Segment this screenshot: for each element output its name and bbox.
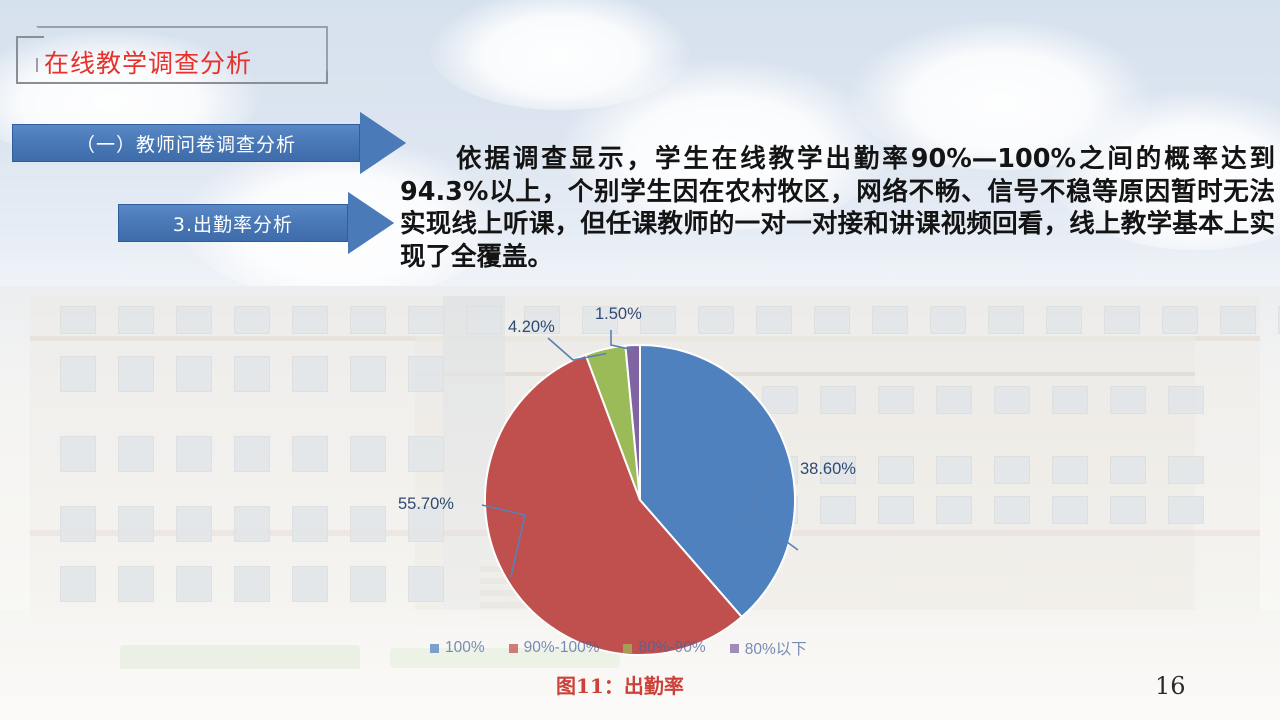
legend-item[interactable]: 100% xyxy=(430,639,485,657)
hedge-shrub xyxy=(120,645,360,669)
section-banner-teacher-survey[interactable]: （一）教师问卷调查分析 xyxy=(12,112,406,174)
section-banner-attendance-analysis[interactable]: 3.出勤率分析 xyxy=(118,192,394,254)
arrow-right-icon xyxy=(348,192,394,254)
legend-swatch xyxy=(430,644,439,653)
legend-label: 80%以下 xyxy=(745,637,807,659)
body-paragraph: 依据调查显示，学生在线教学出勤率90%—100%之间的概率达到94.3%以上，个… xyxy=(400,143,1275,274)
pie-data-label-100: 38.60% xyxy=(800,460,856,479)
chart-legend: 100%90%-100%80%-90%80%以下 xyxy=(430,637,807,659)
legend-label: 80%-90% xyxy=(638,639,705,657)
slide-canvas: 在线教学调查分析 （一）教师问卷调查分析 3.出勤率分析 依据调查显示，学生在线… xyxy=(0,0,1280,720)
legend-swatch xyxy=(509,644,518,653)
pie-data-label-80-90: 4.20% xyxy=(508,318,555,337)
banner-label: （一）教师问卷调查分析 xyxy=(76,130,296,157)
legend-label: 100% xyxy=(445,639,485,657)
banner-body: （一）教师问卷调查分析 xyxy=(12,124,360,162)
legend-item[interactable]: 80%-90% xyxy=(623,639,705,657)
pie-slice-group xyxy=(485,345,795,655)
legend-swatch xyxy=(730,644,739,653)
page-number: 16 xyxy=(1155,672,1186,700)
banner-label: 3.出勤率分析 xyxy=(173,210,293,237)
legend-swatch xyxy=(623,644,632,653)
pie-data-label-90-100: 55.70% xyxy=(398,495,454,514)
legend-item[interactable]: 80%以下 xyxy=(730,637,807,659)
pie-data-label-below-80: 1.50% xyxy=(595,305,642,324)
page-title: 在线教学调查分析 xyxy=(44,44,252,80)
banner-body: 3.出勤率分析 xyxy=(118,204,348,242)
legend-label: 90%-100% xyxy=(524,639,600,657)
figure-caption: 图11：出勤率 xyxy=(556,670,684,699)
legend-item[interactable]: 90%-100% xyxy=(509,639,600,657)
